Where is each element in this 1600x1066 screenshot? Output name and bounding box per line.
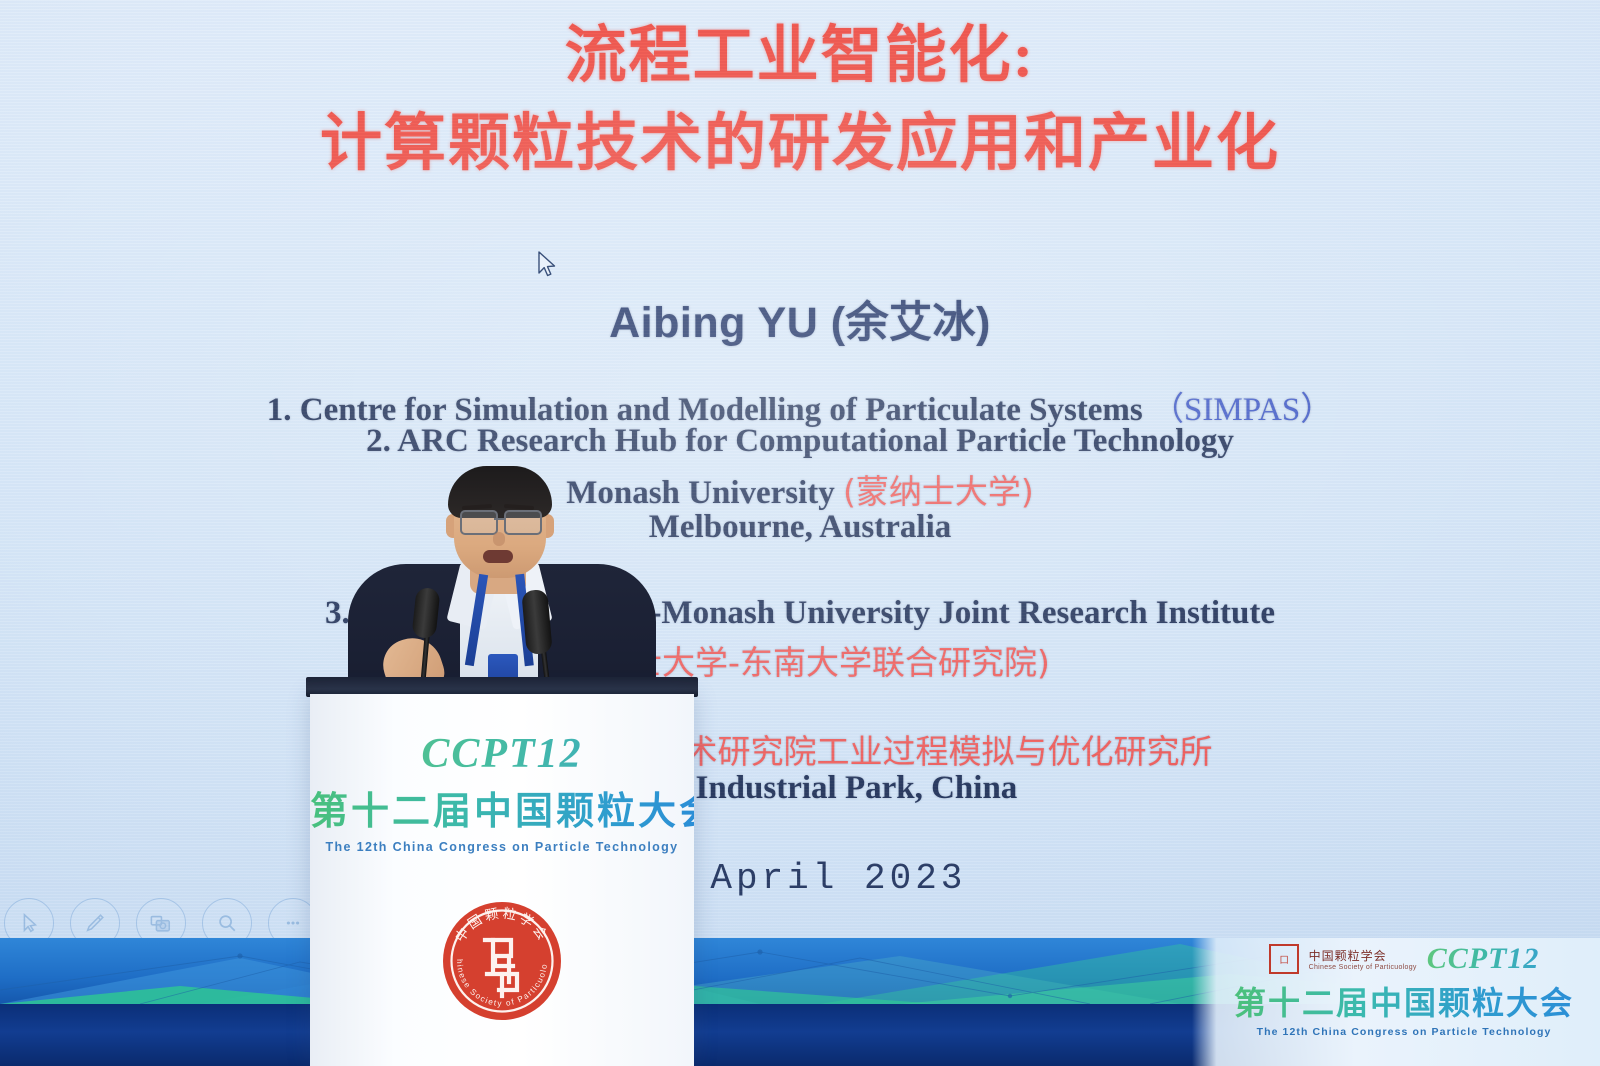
speaker-glasses-right <box>504 510 542 535</box>
slide-title-line-1: 流程工业智能化: <box>0 24 1600 89</box>
affiliation-line-3: Monash University (蒙纳士大学) <box>0 465 1600 513</box>
slide-date: 22 April 2023 <box>0 858 1600 899</box>
corner-society-en: Chinese Society of Particuology <box>1309 964 1417 971</box>
corner-ccpt-logo: CCPT12 <box>1427 942 1540 976</box>
microphone-head-right <box>521 589 552 655</box>
corner-banner-en: The 12th China Congress on Particle Tech… <box>1257 1026 1552 1038</box>
affiliation-line-7: 苏州同元软控信息技术研究院工业过程模拟与优化研究所 <box>0 725 1600 773</box>
affiliation-line-5: 3. Southeast University-Monash Universit… <box>0 595 1600 632</box>
podium-ccpt-logo: CCPT12 <box>310 730 694 778</box>
conference-stage-photo: 流程工业智能化: 计算颗粒技术的研发应用和产业化 Aibing YU (余艾冰)… <box>0 0 1600 1066</box>
podium-logo: CCPT12 第十二届中国颗粒大会 The 12th China Congres… <box>310 730 694 854</box>
speaker-person <box>320 462 720 702</box>
podium: CCPT12 第十二届中国颗粒大会 The 12th China Congres… <box>310 694 694 1066</box>
corner-banner-society: 囗 中国颗粒学会 Chinese Society of Particuology… <box>1269 942 1540 976</box>
slide-content: 流程工业智能化: 计算颗粒技术的研发应用和产业化 Aibing YU (余艾冰)… <box>0 0 1600 938</box>
corner-banner-cn: 第十二届中国颗粒大会 <box>1234 978 1574 1024</box>
corner-society-cn: 中国颗粒学会 <box>1309 947 1417 964</box>
speaker-mouth <box>483 550 513 563</box>
society-seal-icon: 囗 <box>1269 944 1299 974</box>
speaker-glasses-left <box>460 510 498 535</box>
affiliation-3-chinese: (蒙纳士大学) <box>843 472 1034 511</box>
slide-author-name: Aibing YU (余艾冰) <box>0 288 1600 350</box>
affiliation-line-8: Suzhou Industrial Park, China <box>0 770 1600 807</box>
corner-event-banner: 囗 中国颗粒学会 Chinese Society of Particuology… <box>1208 930 1600 1050</box>
society-seal: 中国颗粒学会 Chinese Society of Particuology <box>441 900 563 1022</box>
affiliation-2-text: 2. ARC Research Hub for Computational Pa… <box>366 423 1234 459</box>
speaker-nose <box>493 532 505 546</box>
affiliation-line-4: Melbourne, Australia <box>0 509 1600 546</box>
slide-title-line-2: 计算颗粒技术的研发应用和产业化 <box>0 112 1600 177</box>
podium-logo-en: The 12th China Congress on Particle Tech… <box>310 840 694 854</box>
affiliation-line-6: (蒙纳士大学-东南大学联合研究院) <box>0 636 1600 684</box>
podium-logo-cn: 第十二届中国颗粒大会 <box>310 780 694 835</box>
affiliation-line-2: 2. ARC Research Hub for Computational Pa… <box>0 423 1600 460</box>
speaker-glasses-bridge <box>494 518 506 520</box>
